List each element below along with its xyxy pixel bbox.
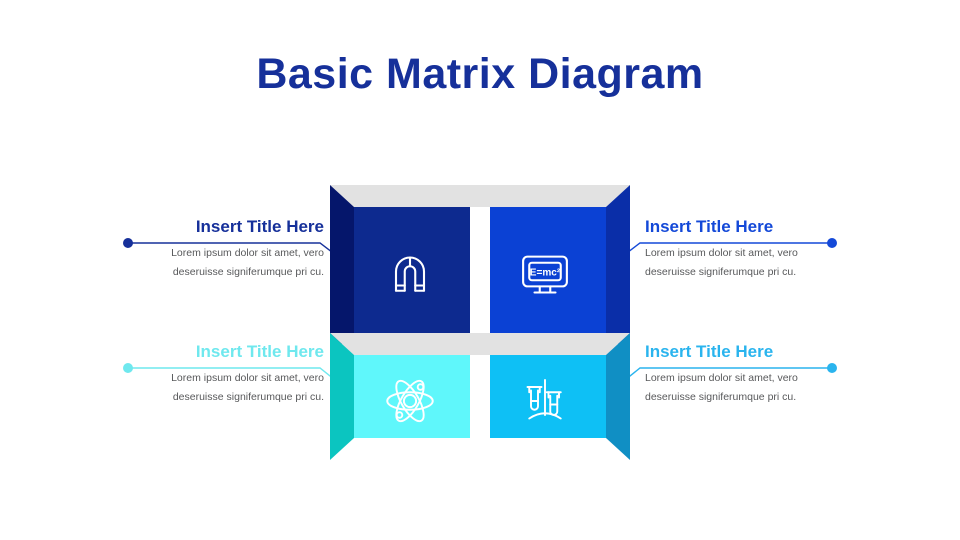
callout-top-left: Insert Title Here Lorem ipsum dolor sit …: [124, 218, 324, 283]
matrix-diagram: E=mc²: [330, 185, 630, 460]
br-face: [490, 355, 606, 438]
top-bevel-band: [330, 185, 630, 207]
callout-bottom-left: Insert Title Here Lorem ipsum dolor sit …: [124, 343, 324, 408]
bl-face: [354, 355, 470, 438]
br-side-right: [606, 333, 630, 460]
quadrant-top-left[interactable]: [330, 185, 470, 355]
middle-bevel-band: [330, 333, 630, 355]
bl-side-left: [330, 333, 354, 460]
callout-top-right: Insert Title Here Lorem ipsum dolor sit …: [645, 218, 845, 283]
callout-body: Lorem ipsum dolor sit amet, vero deserui…: [124, 369, 324, 408]
tr-side-right: [606, 185, 630, 355]
quadrant-top-right[interactable]: [490, 185, 630, 355]
callout-title: Insert Title Here: [645, 218, 845, 237]
callout-body: Lorem ipsum dolor sit amet, vero deserui…: [645, 369, 845, 408]
callout-title: Insert Title Here: [124, 218, 324, 237]
callout-body: Lorem ipsum dolor sit amet, vero deserui…: [124, 244, 324, 283]
callout-body: Lorem ipsum dolor sit amet, vero deserui…: [645, 244, 845, 283]
callout-bottom-right: Insert Title Here Lorem ipsum dolor sit …: [645, 343, 845, 408]
callout-title: Insert Title Here: [645, 343, 845, 362]
tl-face: [354, 207, 470, 333]
callout-title: Insert Title Here: [124, 343, 324, 362]
tr-face: [490, 207, 606, 333]
